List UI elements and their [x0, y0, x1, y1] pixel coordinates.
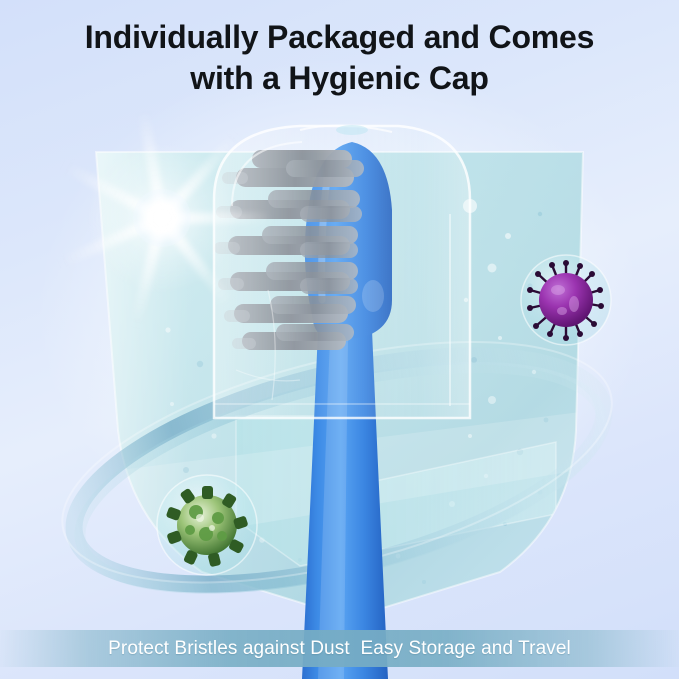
cap-shell: [214, 125, 470, 418]
bacteria-cluster-green: [148, 466, 266, 584]
banner-text: Protect Bristles against Dust Easy Stora…: [108, 638, 571, 660]
virus-particle-purple: [512, 246, 620, 354]
page-title: Individually Packaged and Comes with a H…: [0, 17, 679, 99]
virus-core: [539, 273, 593, 327]
bottom-claim-banner: Protect Bristles against Dust Easy Stora…: [0, 630, 679, 667]
product-feature-image: Individually Packaged and Comes with a H…: [0, 0, 679, 679]
